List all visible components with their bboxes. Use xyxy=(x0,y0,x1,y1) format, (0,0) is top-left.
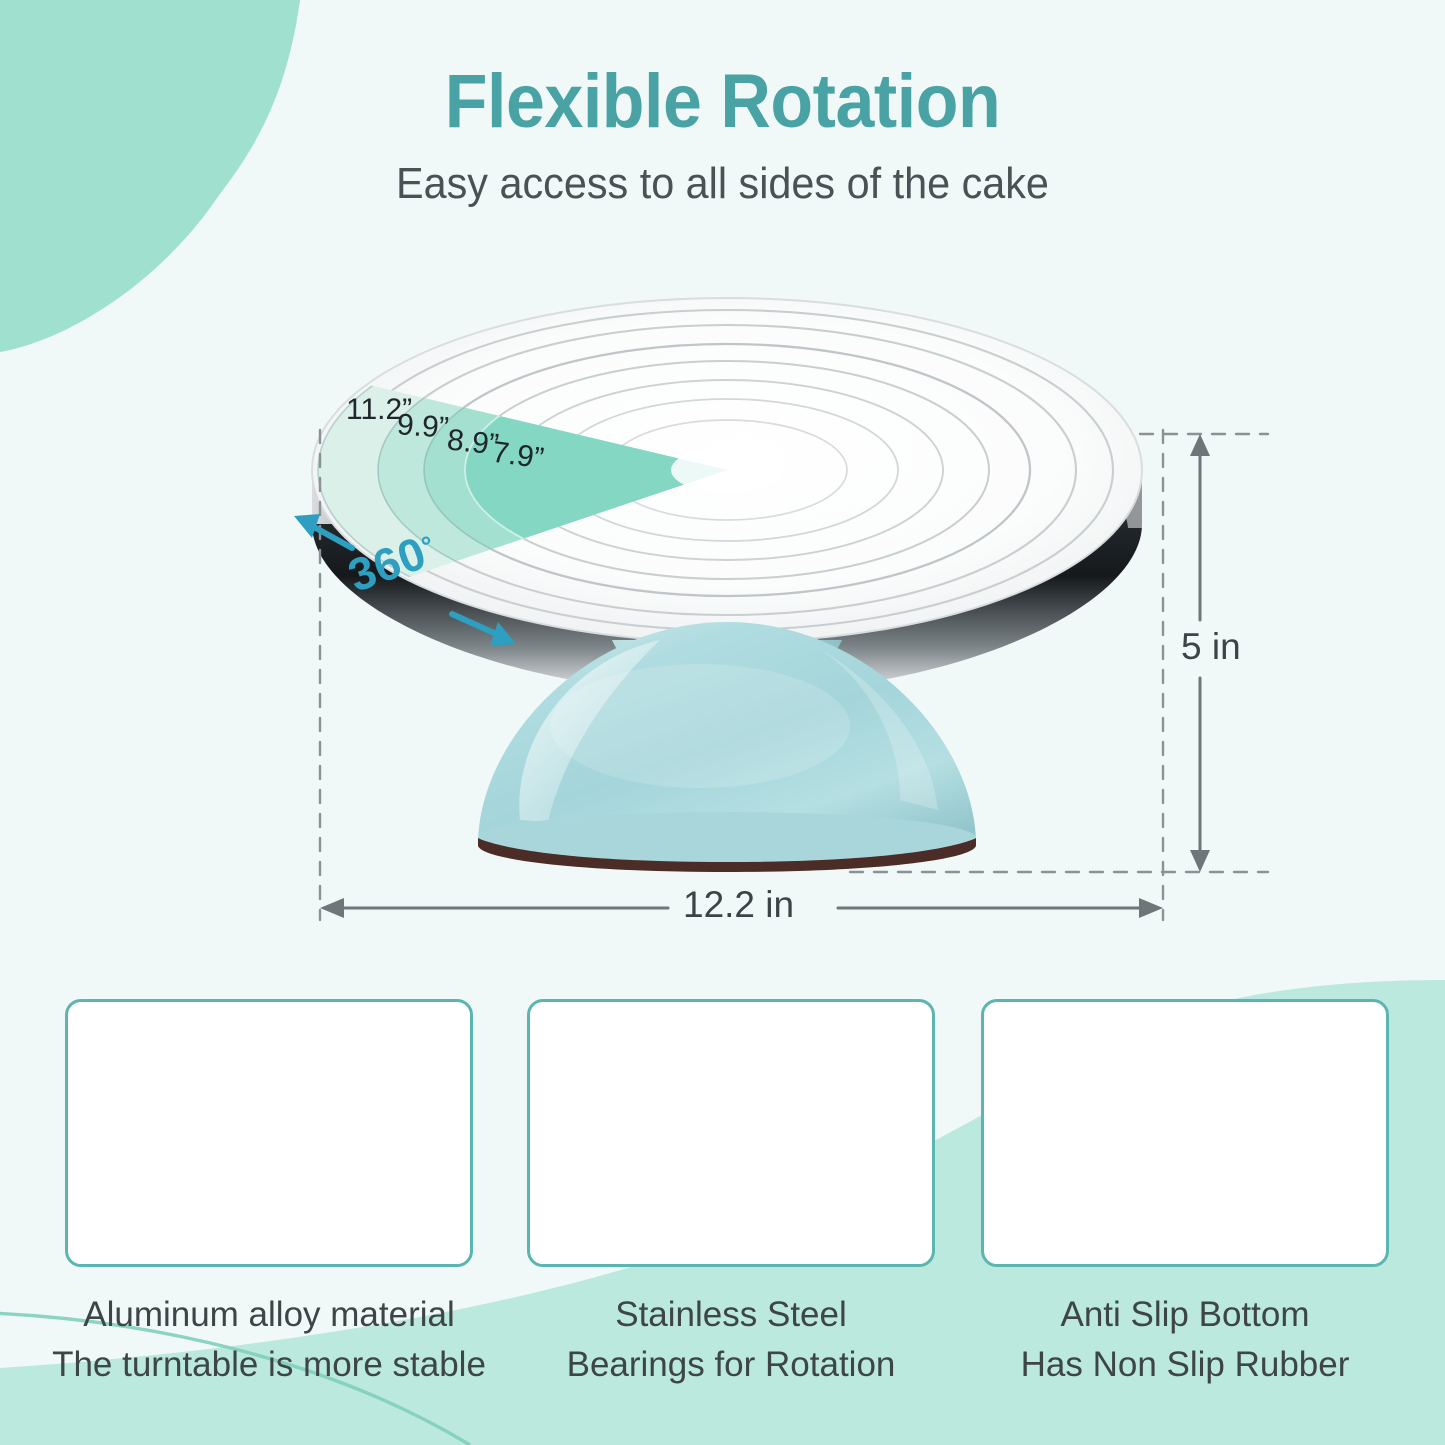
feature-panels xyxy=(0,0,1445,1445)
caption-aluminum: Aluminum alloy material The turntable is… xyxy=(49,1290,489,1389)
feature-panel-antislip[interactable] xyxy=(981,999,1389,1267)
caption-antislip-line1: Anti Slip Bottom xyxy=(1061,1295,1310,1334)
caption-bearings: Stainless Steel Bearings for Rotation xyxy=(511,1290,951,1389)
feature-panel-bearings[interactable] xyxy=(527,999,935,1267)
caption-antislip: Anti Slip Bottom Has Non Slip Rubber xyxy=(965,1290,1405,1389)
feature-panel-aluminum[interactable] xyxy=(65,999,473,1267)
caption-bearings-line1: Stainless Steel xyxy=(615,1295,847,1334)
diameter-label-79: 7.9” xyxy=(490,436,546,477)
height-dimension-label: 5 in xyxy=(1181,626,1241,668)
infographic-stage: Flexible Rotation Easy access to all sid… xyxy=(0,0,1445,1445)
diameter-label-99: 9.9” xyxy=(396,408,450,446)
caption-aluminum-line2: The turntable is more stable xyxy=(49,1340,489,1390)
caption-antislip-line2: Has Non Slip Rubber xyxy=(965,1340,1405,1390)
caption-aluminum-line1: Aluminum alloy material xyxy=(83,1295,455,1334)
width-dimension-label: 12.2 in xyxy=(683,884,794,926)
caption-bearings-line2: Bearings for Rotation xyxy=(511,1340,951,1390)
